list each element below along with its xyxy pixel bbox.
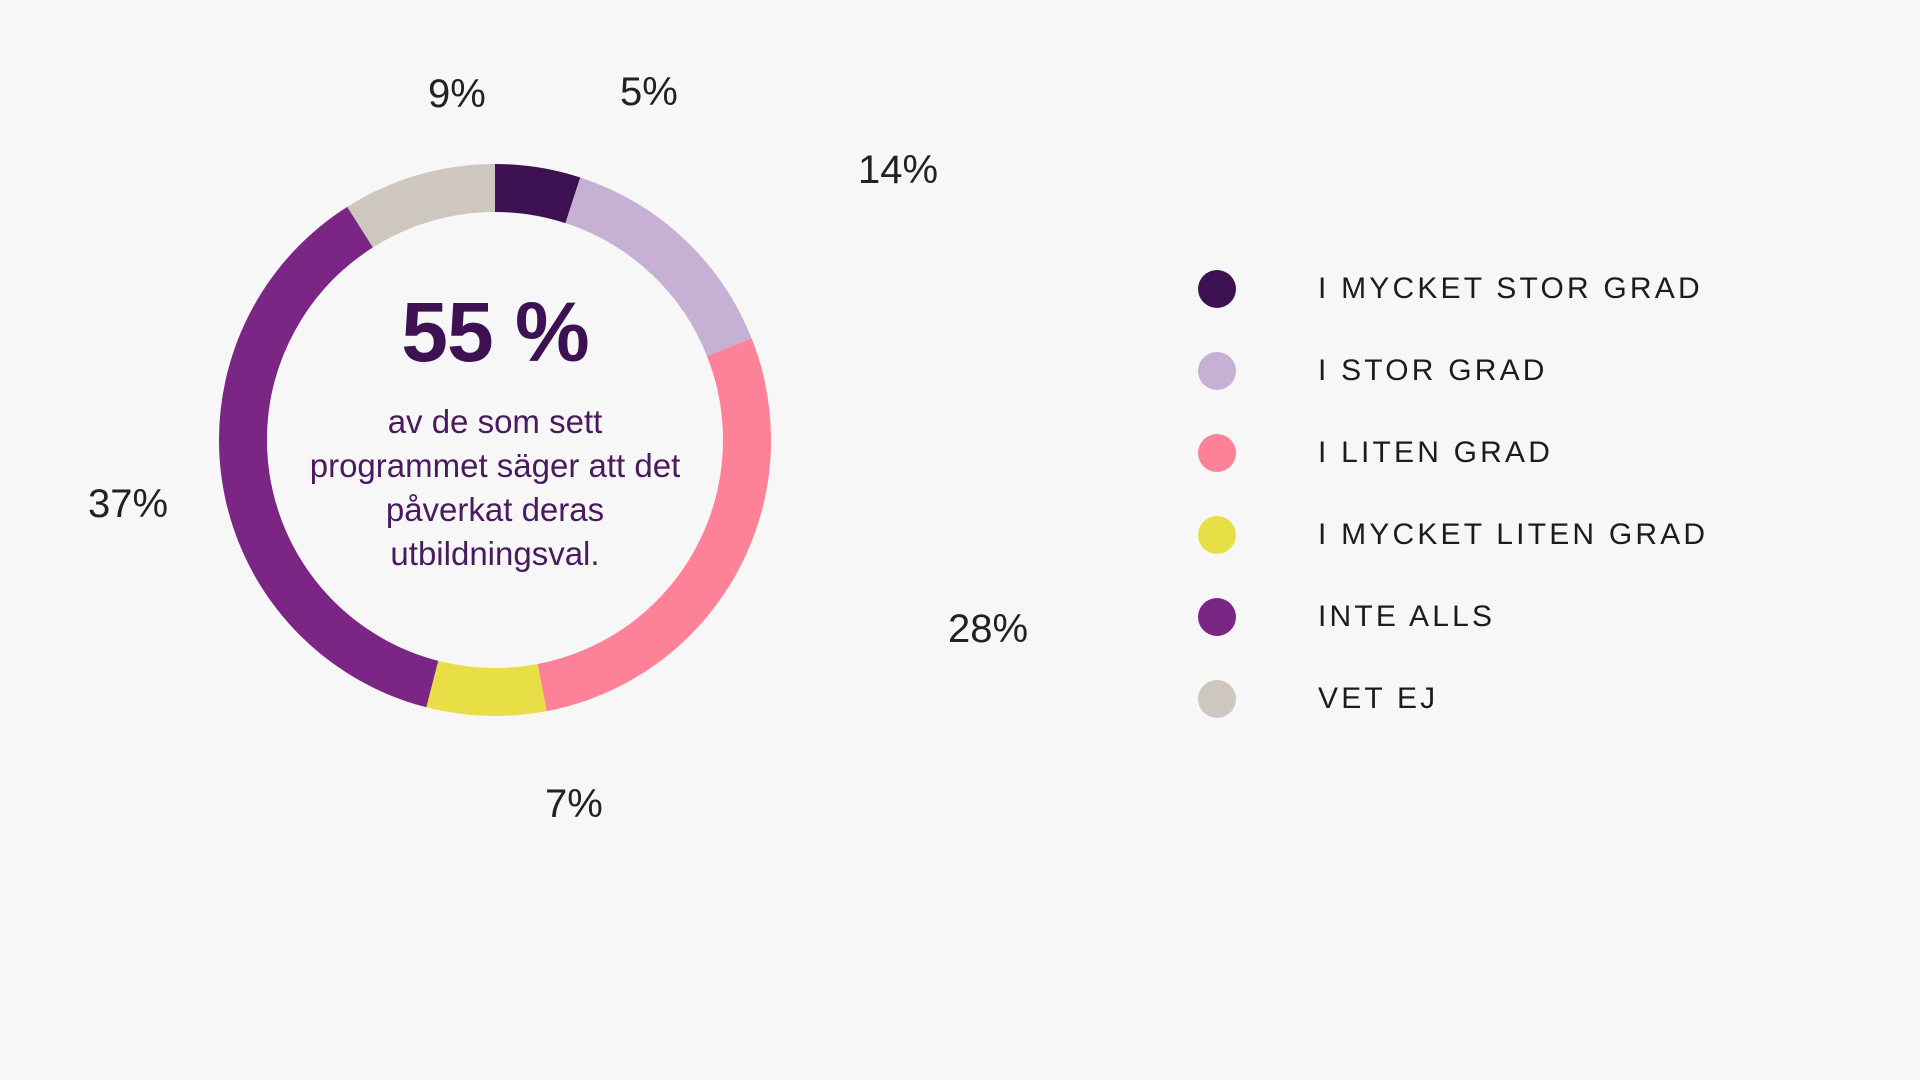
chart-area: 55 % av de som sett programmet säger att…: [0, 0, 1180, 1080]
donut-chart: 55 % av de som sett programmet säger att…: [195, 140, 795, 740]
legend-swatch-icon: [1198, 598, 1236, 636]
chart-legend: I MYCKET STOR GRADI STOR GRADI LITEN GRA…: [1198, 248, 1878, 740]
data-label-i-stor-grad: 14%: [858, 148, 938, 193]
legend-swatch-icon: [1198, 434, 1236, 472]
legend-swatch-icon: [1198, 352, 1236, 390]
legend-swatch-icon: [1198, 680, 1236, 718]
legend-item-label: I LITEN GRAD: [1318, 436, 1553, 470]
legend-item-label: VET EJ: [1318, 682, 1438, 716]
data-label-vet-ej: 9%: [428, 72, 486, 117]
legend-item-label: INTE ALLS: [1318, 600, 1495, 634]
data-label-i-mycket-liten-grad: 7%: [545, 782, 603, 827]
donut-chart-infographic: 55 % av de som sett programmet säger att…: [0, 0, 1920, 1080]
data-label-i-liten-grad: 28%: [948, 607, 1028, 652]
legend-item[interactable]: VET EJ: [1198, 658, 1878, 740]
legend-swatch-icon: [1198, 270, 1236, 308]
legend-item-label: I STOR GRAD: [1318, 354, 1548, 388]
data-label-inte-alls: 37%: [88, 482, 168, 527]
legend-item-label: I MYCKET STOR GRAD: [1318, 272, 1703, 306]
donut-svg: [195, 140, 795, 740]
legend-item[interactable]: I STOR GRAD: [1198, 330, 1878, 412]
data-label-i-mycket-stor-grad: 5%: [620, 70, 678, 115]
legend-item[interactable]: I MYCKET LITEN GRAD: [1198, 494, 1878, 576]
legend-item[interactable]: I MYCKET STOR GRAD: [1198, 248, 1878, 330]
legend-item-label: I MYCKET LITEN GRAD: [1318, 518, 1708, 552]
legend-swatch-icon: [1198, 516, 1236, 554]
legend-item[interactable]: I LITEN GRAD: [1198, 412, 1878, 494]
legend-item[interactable]: INTE ALLS: [1198, 576, 1878, 658]
